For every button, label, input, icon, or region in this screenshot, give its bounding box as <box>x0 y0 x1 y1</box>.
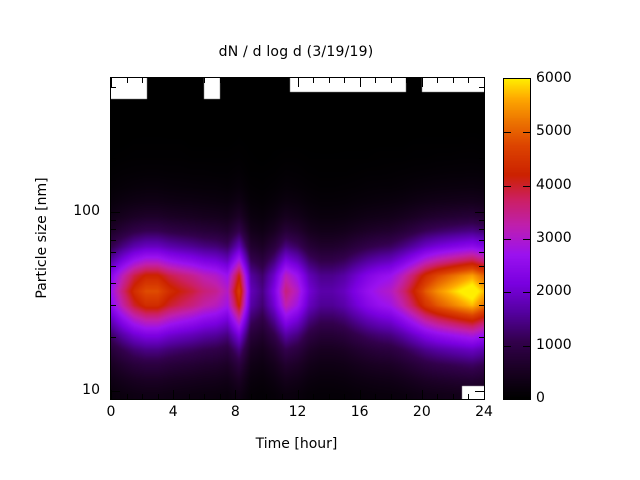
tick-mark <box>479 104 484 105</box>
tick-mark <box>360 78 361 87</box>
tick-mark <box>127 394 128 399</box>
tick-mark <box>220 394 221 399</box>
tick-mark <box>391 78 392 83</box>
tick-mark <box>437 78 438 83</box>
tick-mark <box>453 78 454 83</box>
tick-mark <box>437 394 438 399</box>
tick-mark <box>504 186 511 187</box>
tick-mark <box>142 78 143 83</box>
colorbar-tick-label: 6000 <box>536 70 572 86</box>
tick-mark <box>504 239 511 240</box>
y-tick-label: 100 <box>56 203 100 219</box>
tick-mark <box>111 283 116 284</box>
tick-mark <box>251 78 252 83</box>
tick-mark <box>468 78 469 83</box>
tick-mark <box>266 394 267 399</box>
tick-mark <box>484 78 485 87</box>
tick-mark <box>479 305 484 306</box>
tick-mark <box>251 394 252 399</box>
tick-mark <box>504 292 511 293</box>
tick-mark <box>391 394 392 399</box>
y-tick-label: 10 <box>56 382 100 398</box>
tick-mark <box>111 391 120 392</box>
tick-mark <box>173 390 174 399</box>
tick-mark <box>298 78 299 87</box>
tick-mark <box>479 87 484 88</box>
colorbar-tick-label: 2000 <box>536 283 572 299</box>
tick-mark <box>375 78 376 83</box>
tick-mark <box>313 394 314 399</box>
tick-mark <box>298 390 299 399</box>
colorbar-tick-label: 1000 <box>536 337 572 353</box>
tick-mark <box>453 394 454 399</box>
tick-mark <box>220 78 221 83</box>
x-tick-label: 8 <box>215 404 255 420</box>
tick-mark <box>204 394 205 399</box>
tick-mark <box>235 390 236 399</box>
x-axis-label: Time [hour] <box>110 436 483 452</box>
tick-mark <box>375 394 376 399</box>
page-title: dN / d log d (3/19/19) <box>0 44 592 60</box>
tick-mark <box>173 78 174 87</box>
tick-mark <box>523 292 530 293</box>
tick-mark <box>111 158 116 159</box>
tick-mark <box>111 87 116 88</box>
tick-mark <box>189 78 190 83</box>
tick-mark <box>158 394 159 399</box>
colorbar-tick-label: 4000 <box>536 177 572 193</box>
y-axis-label: Particle size [nm] <box>34 118 50 358</box>
tick-mark <box>479 220 484 221</box>
tick-mark <box>523 346 530 347</box>
tick-mark <box>479 229 484 230</box>
tick-mark <box>111 337 116 338</box>
colorbar-tick-label: 0 <box>536 390 545 406</box>
tick-mark <box>189 394 190 399</box>
tick-mark <box>111 229 116 230</box>
tick-mark <box>329 78 330 83</box>
tick-mark <box>484 390 485 399</box>
x-tick-label: 24 <box>464 404 504 420</box>
tick-mark <box>235 78 236 87</box>
tick-mark <box>504 346 511 347</box>
tick-mark <box>111 252 116 253</box>
tick-mark <box>344 394 345 399</box>
x-tick-label: 12 <box>278 404 318 420</box>
tick-mark <box>422 390 423 399</box>
tick-mark <box>344 78 345 83</box>
tick-mark <box>360 390 361 399</box>
tick-mark <box>468 394 469 399</box>
tick-mark <box>479 252 484 253</box>
tick-mark <box>111 240 116 241</box>
figure: dN / d log d (3/19/19) Time [hour] Parti… <box>0 0 640 480</box>
tick-mark <box>479 127 484 128</box>
x-tick-label: 20 <box>402 404 442 420</box>
tick-mark <box>422 78 423 87</box>
tick-mark <box>111 127 116 128</box>
tick-mark <box>523 132 530 133</box>
tick-mark <box>475 391 484 392</box>
tick-mark <box>111 104 116 105</box>
tick-mark <box>479 158 484 159</box>
tick-mark <box>282 78 283 83</box>
tick-mark <box>111 78 112 87</box>
tick-mark <box>127 78 128 83</box>
tick-mark <box>158 78 159 83</box>
tick-mark <box>475 212 484 213</box>
tick-mark <box>523 186 530 187</box>
tick-mark <box>142 394 143 399</box>
tick-mark <box>111 220 116 221</box>
tick-mark <box>282 394 283 399</box>
tick-mark <box>266 78 267 83</box>
tick-mark <box>313 78 314 83</box>
tick-mark <box>479 283 484 284</box>
x-tick-label: 0 <box>91 404 131 420</box>
tick-mark <box>111 305 116 306</box>
tick-mark <box>329 394 330 399</box>
heatmap-canvas <box>111 78 484 399</box>
tick-mark <box>479 337 484 338</box>
tick-mark <box>204 78 205 83</box>
tick-mark <box>406 394 407 399</box>
tick-mark <box>479 266 484 267</box>
x-tick-label: 4 <box>153 404 193 420</box>
x-tick-label: 16 <box>340 404 380 420</box>
tick-mark <box>111 266 116 267</box>
tick-mark <box>406 78 407 83</box>
colorbar-tick-label: 5000 <box>536 123 572 139</box>
tick-mark <box>111 212 120 213</box>
tick-mark <box>523 239 530 240</box>
tick-mark <box>479 240 484 241</box>
colorbar-tick-label: 3000 <box>536 230 572 246</box>
tick-mark <box>504 132 511 133</box>
